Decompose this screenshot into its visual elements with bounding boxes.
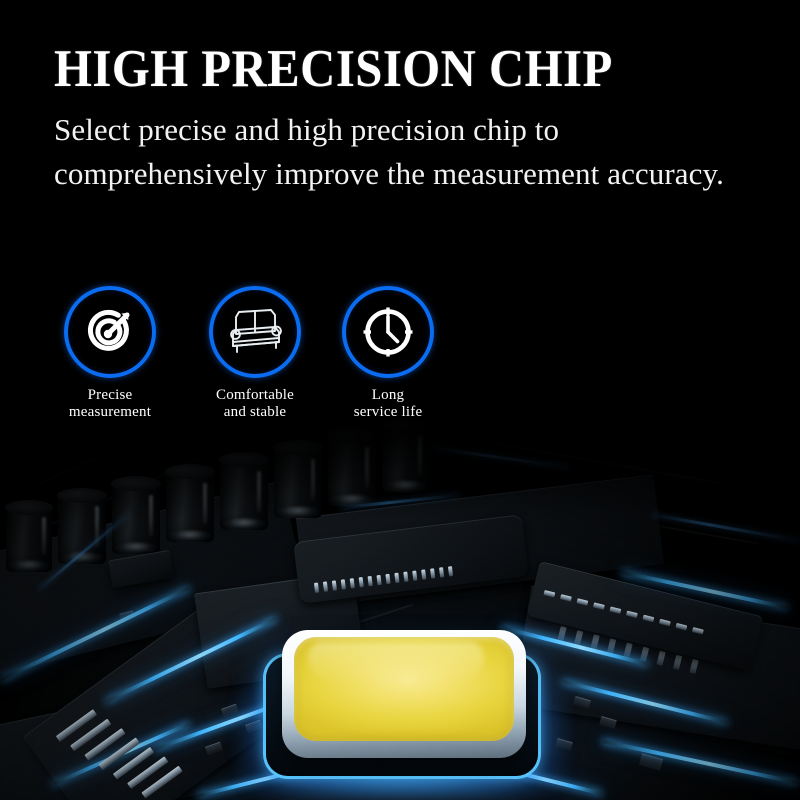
chip-highlight <box>308 642 484 684</box>
circuit-board-background <box>0 400 800 800</box>
feature-item-long-service-life[interactable]: Long service life <box>318 286 458 422</box>
feature-label: Precise measurement <box>40 387 180 422</box>
capacitor <box>58 488 106 558</box>
promo-banner: HIGH PRECISION CHIP Select precise and h… <box>0 0 800 800</box>
feature-circle <box>209 286 301 378</box>
capacitor <box>6 500 52 566</box>
feature-circle <box>342 286 434 378</box>
sofa-icon <box>225 305 285 359</box>
capacitor <box>166 464 214 536</box>
target-icon <box>82 304 138 360</box>
capacitor <box>274 440 322 512</box>
board-etch <box>472 438 719 483</box>
feature-list: Precise measurement <box>50 286 470 446</box>
page-title: HIGH PRECISION CHIP <box>54 42 698 96</box>
feature-item-precise-measurement[interactable]: Precise measurement <box>40 286 180 422</box>
feature-circle <box>64 286 156 378</box>
feature-item-comfortable-stable[interactable]: Comfortable and stable <box>185 286 325 422</box>
clock-icon <box>359 303 417 361</box>
capacitor <box>112 476 160 548</box>
feature-label: Long service life <box>318 387 458 422</box>
page-subtitle: Select precise and high precision chip t… <box>54 108 766 196</box>
golden-chip <box>252 626 552 796</box>
smd-component <box>639 753 663 771</box>
glowing-trace <box>430 446 569 468</box>
glowing-trace <box>602 739 798 784</box>
feature-label: Comfortable and stable <box>185 387 325 422</box>
capacitor <box>220 452 268 524</box>
